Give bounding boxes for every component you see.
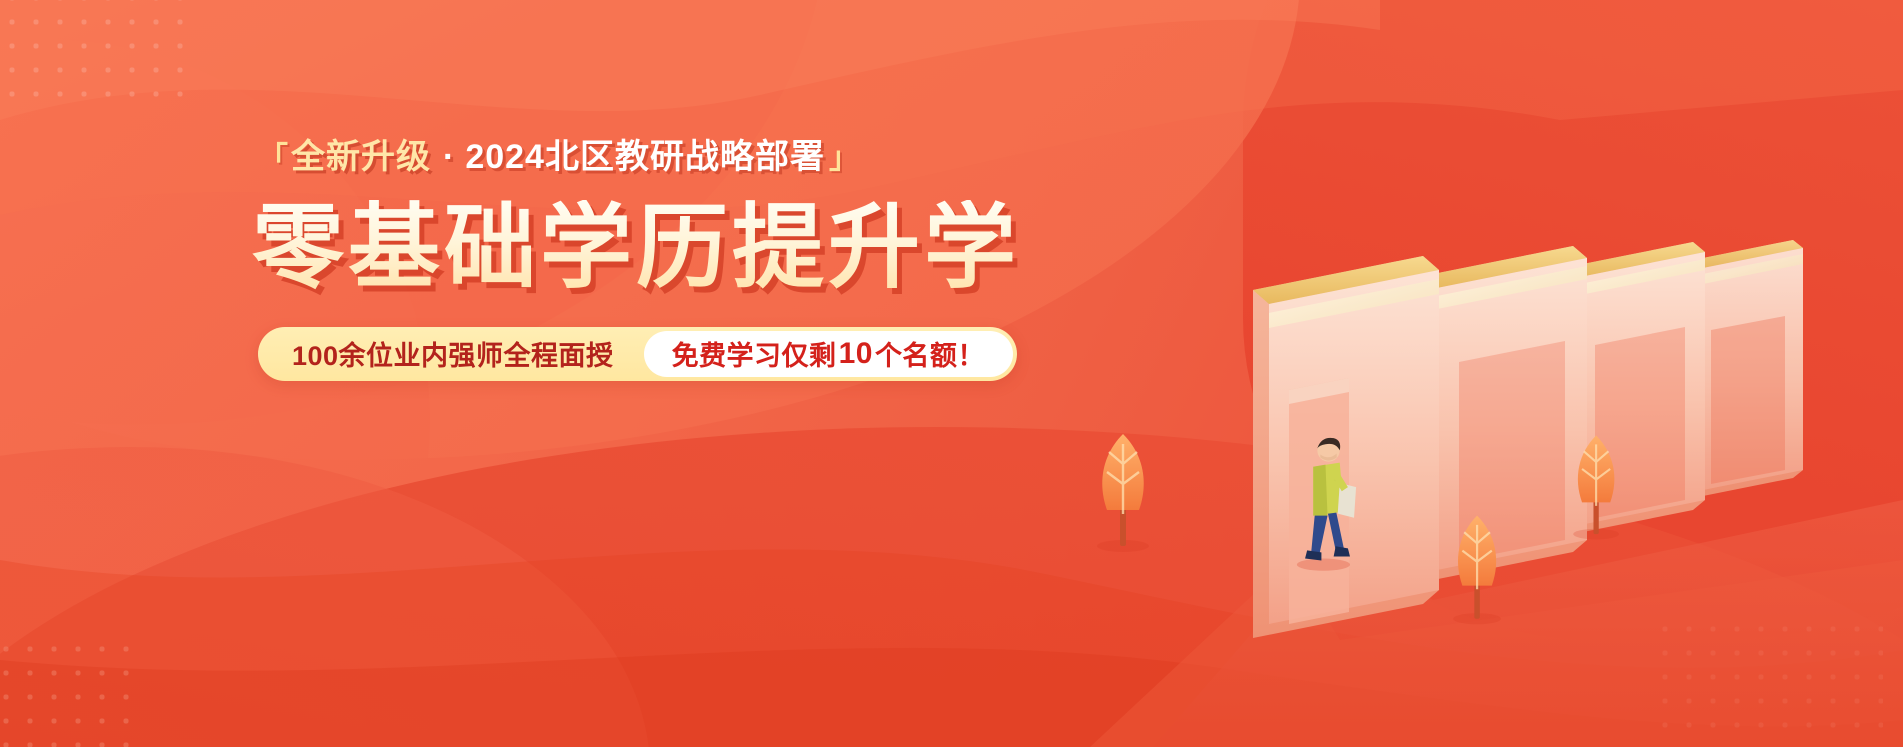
badge-seats-suffix: 个名额！ [875, 334, 985, 373]
isometric-book-arches-illustration [1003, 0, 1903, 747]
promo-banner: 「 全新升级 · 2024北区教研战略部署 」 零基础学历提升学霸班 100余位… [0, 0, 1903, 747]
banner-text-block: 「 全新升级 · 2024北区教研战略部署 」 零基础学历提升学霸班 100余位… [258, 140, 1018, 381]
dot-grid-top-left-icon [0, 0, 190, 106]
hero-illustration [1003, 0, 1903, 747]
book-arch-2 [1423, 246, 1587, 582]
tree-icon-left [1097, 434, 1149, 552]
subtitle-highlight: 全新升级 [289, 140, 433, 174]
page-title: 零基础学历提升学霸班 [252, 200, 1018, 297]
badge-seats-prefix: 免费学习仅剩 [672, 334, 837, 373]
subtitle-separator: · [443, 140, 455, 174]
subtitle-open-bracket: 「 [258, 144, 289, 174]
dot-grid-bottom-left-icon [0, 637, 144, 747]
badge-seats-number: 10 [837, 337, 875, 371]
subtitle-close-bracket: 」 [829, 144, 860, 174]
subtitle-rest: 2024北区教研战略部署 [465, 140, 825, 174]
banner-subtitle: 「 全新升级 · 2024北区教研战略部署 」 [258, 140, 1018, 174]
offer-badge[interactable]: 100余位业内强师全程面授 免费学习仅剩 10 个名额！ [258, 327, 1017, 381]
badge-seats-remaining: 免费学习仅剩 10 个名额！ [644, 331, 1013, 377]
badge-teachers-label: 100余位业内强师全程面授 [258, 327, 644, 381]
book-arch-1 [1253, 256, 1439, 638]
